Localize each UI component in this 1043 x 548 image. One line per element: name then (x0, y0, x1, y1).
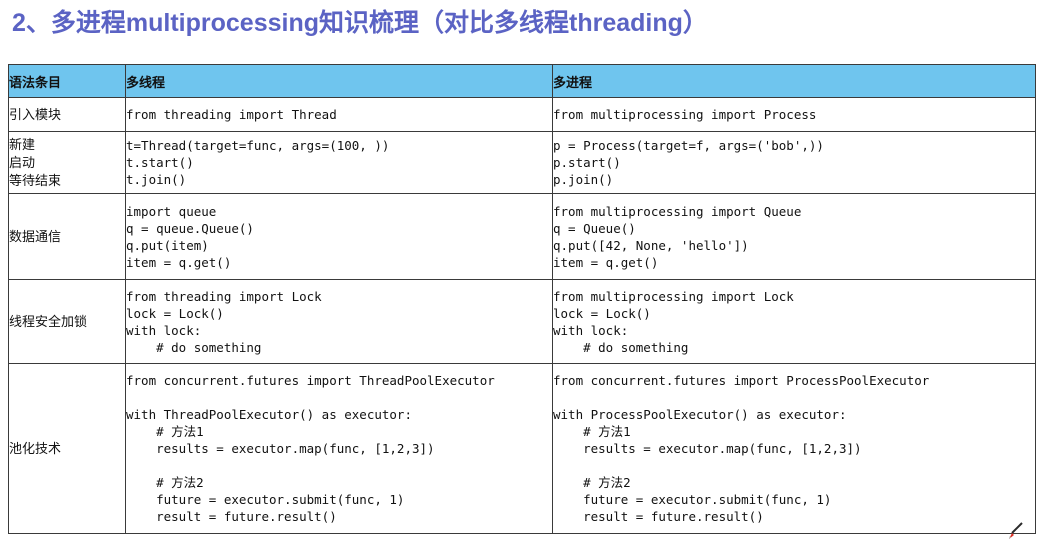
column-header-syntax-item: 语法条目 (9, 65, 126, 98)
row-label-thread-safe-lock: 线程安全加锁 (9, 280, 126, 364)
table-body: 引入模块 from threading import Thread from m… (9, 98, 1036, 534)
cell-threading-import-module: from threading import Thread (126, 98, 553, 132)
table-row: 线程安全加锁 from threading import Lock lock =… (9, 280, 1036, 364)
row-label-pooling: 池化技术 (9, 364, 126, 534)
table-row: 数据通信 import queue q = queue.Queue() q.pu… (9, 194, 1036, 280)
cell-threading-data-communication: import queue q = queue.Queue() q.put(ite… (126, 194, 553, 280)
cell-multiprocessing-create-start-join: p = Process(target=f, args=('bob',)) p.s… (553, 132, 1036, 194)
comparison-table: 语法条目 多线程 多进程 引入模块 from threading import … (8, 64, 1036, 534)
column-header-multiprocessing: 多进程 (553, 65, 1036, 98)
cell-multiprocessing-import-module: from multiprocessing import Process (553, 98, 1036, 132)
cell-threading-thread-safe-lock: from threading import Lock lock = Lock()… (126, 280, 553, 364)
table-header: 语法条目 多线程 多进程 (9, 65, 1036, 98)
table-row: 引入模块 from threading import Thread from m… (9, 98, 1036, 132)
cell-multiprocessing-data-communication: from multiprocessing import Queue q = Qu… (553, 194, 1036, 280)
slide-page: 2、多进程multiprocessing知识梳理（对比多线程threading）… (0, 0, 1043, 548)
table-row: 新建 启动 等待结束 t=Thread(target=func, args=(1… (9, 132, 1036, 194)
table-header-row: 语法条目 多线程 多进程 (9, 65, 1036, 98)
row-label-create-start-join: 新建 启动 等待结束 (9, 132, 126, 194)
comparison-table-container: 语法条目 多线程 多进程 引入模块 from threading import … (8, 64, 1035, 534)
cell-threading-create-start-join: t=Thread(target=func, args=(100, )) t.st… (126, 132, 553, 194)
page-title: 2、多进程multiprocessing知识梳理（对比多线程threading） (12, 6, 708, 40)
cell-multiprocessing-pooling: from concurrent.futures import ProcessPo… (553, 364, 1036, 534)
cell-multiprocessing-thread-safe-lock: from multiprocessing import Lock lock = … (553, 280, 1036, 364)
table-row: 池化技术 from concurrent.futures import Thre… (9, 364, 1036, 534)
cell-threading-pooling: from concurrent.futures import ThreadPoo… (126, 364, 553, 534)
column-header-threading: 多线程 (126, 65, 553, 98)
row-label-data-communication: 数据通信 (9, 194, 126, 280)
row-label-import-module: 引入模块 (9, 98, 126, 132)
